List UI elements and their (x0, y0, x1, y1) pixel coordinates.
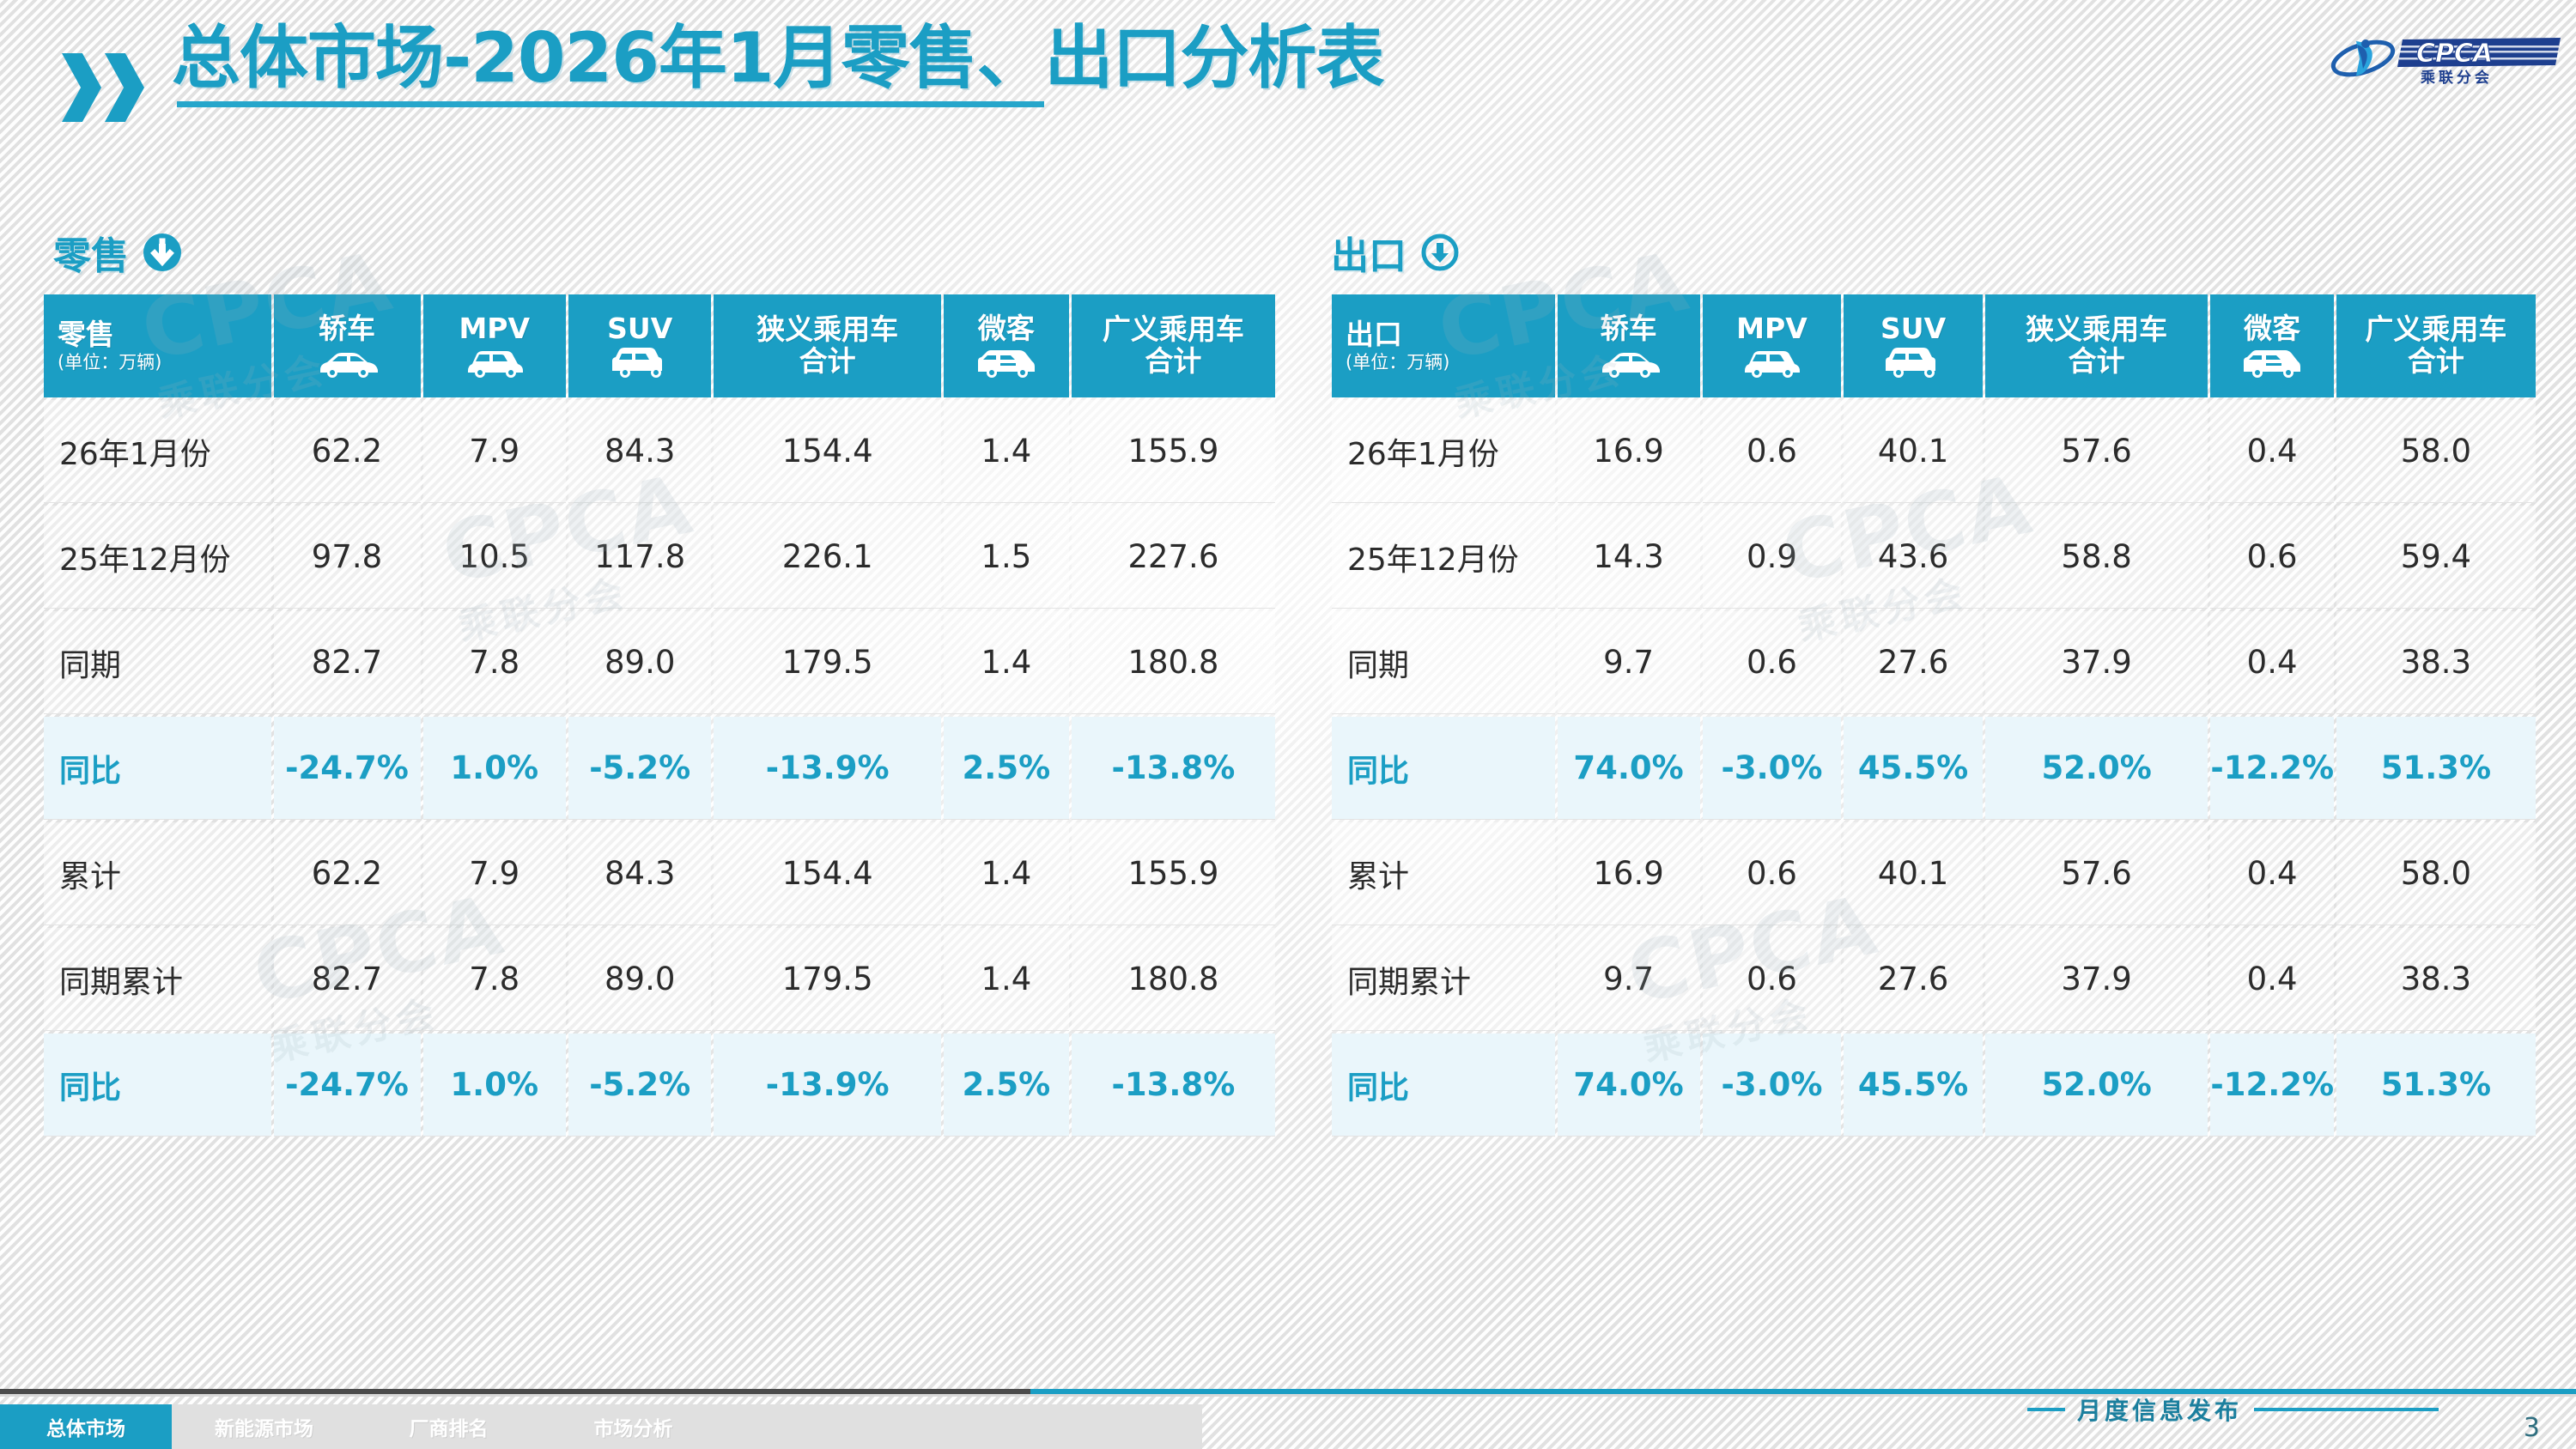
export-cell-r2-c2: 27.6 (1844, 611, 1983, 714)
export-table-head: 出口(单位：万辆)轿车 MPV SUV 狭义乘用车 合计微客 广义乘用车 合计 (1332, 294, 2536, 397)
retail-table-row: 26年1月份62.27.984.3154.41.4155.9 (44, 400, 1275, 503)
retail-table-head: 零售(单位：万辆)轿车 MPV SUV 狭义乘用车 合计微客 广义乘用车 合计 (44, 294, 1275, 397)
retail-header-row: 零售(单位：万辆)轿车 MPV SUV 狭义乘用车 合计微客 广义乘用车 合计 (44, 294, 1275, 397)
retail-row-label-0: 26年1月份 (44, 400, 271, 503)
retail-corner-unit: (单位：万辆) (58, 353, 268, 373)
retail-cell-r1-c0: 97.8 (274, 506, 421, 609)
export-col-header-4: 微客 (2210, 294, 2333, 397)
export-table-row: 同期9.70.627.637.90.438.3 (1332, 611, 2536, 714)
retail-table-body: 26年1月份62.27.984.3154.41.4155.925年12月份97.… (44, 400, 1275, 1137)
section-caption-retail-label: 零售 (53, 225, 129, 280)
export-cell-r0-c0: 16.9 (1558, 400, 1700, 503)
retail-table-corner-header: 零售(单位：万辆) (44, 294, 271, 397)
export-cell-r3-c1: -3.0% (1703, 717, 1842, 820)
retail-cell-r1-c4: 1.5 (944, 506, 1069, 609)
export-cell-r2-c5: 38.3 (2336, 611, 2536, 714)
export-col-header-label-0: 轿车 (1561, 313, 1697, 345)
export-col-header-label-1: MPV (1706, 313, 1838, 345)
retail-corner-label: 零售 (58, 319, 268, 351)
export-table-row: 25年12月份14.30.943.658.80.659.4 (1332, 506, 2536, 609)
bottom-navigation[interactable]: 总体市场新能源市场厂商排名市场分析 (0, 1404, 1202, 1449)
retail-cell-r0-c1: 7.9 (423, 400, 566, 503)
suv-icon (572, 348, 708, 379)
export-cell-r5-c4: 0.4 (2210, 928, 2333, 1031)
nav-item-2[interactable]: 厂商排名 (356, 1404, 541, 1449)
export-table-row: 累计16.90.640.157.60.458.0 (1332, 822, 2536, 925)
export-row-label-2: 同期 (1332, 611, 1555, 714)
retail-col-header-2: SUV (568, 294, 711, 397)
retail-cell-r4-c2: 84.3 (568, 822, 711, 925)
retail-cell-r0-c5: 155.9 (1072, 400, 1275, 503)
export-cell-r5-c5: 38.3 (2336, 928, 2536, 1031)
retail-cell-r6-c3: -13.9% (714, 1034, 941, 1137)
slide-page: 总体市场-2026年1月零售、出口分析表 CPCA 乘联分会 (0, 0, 2576, 1449)
export-row-label-3: 同比 (1332, 717, 1555, 820)
retail-cell-r0-c0: 62.2 (274, 400, 421, 503)
export-cell-r2-c0: 9.7 (1558, 611, 1700, 714)
retail-row-label-1: 25年12月份 (44, 506, 271, 609)
export-cell-r5-c1: 0.6 (1703, 928, 1842, 1031)
export-cell-r6-c1: -3.0% (1703, 1034, 1842, 1137)
export-cell-r4-c1: 0.6 (1703, 822, 1842, 925)
export-cell-r1-c5: 59.4 (2336, 506, 2536, 609)
retail-col-header-5: 广义乘用车 合计 (1072, 294, 1275, 397)
minivan-icon (2214, 348, 2330, 379)
export-cell-r3-c4: -12.2% (2210, 717, 2333, 820)
export-cell-r0-c3: 57.6 (1985, 400, 2208, 503)
export-cell-r4-c4: 0.4 (2210, 822, 2333, 925)
retail-cell-r3-c3: -13.9% (714, 717, 941, 820)
retail-col-header-label-1: MPV (427, 313, 562, 345)
export-row-label-1: 25年12月份 (1332, 506, 1555, 609)
retail-cell-r5-c4: 1.4 (944, 928, 1069, 1031)
footer-dash-right (2254, 1408, 2439, 1411)
svg-text:CPCA: CPCA (2416, 39, 2493, 69)
export-cell-r2-c1: 0.6 (1703, 611, 1842, 714)
export-corner-label: 出口 (1346, 319, 1552, 351)
retail-table-row: 累计62.27.984.3154.41.4155.9 (44, 822, 1275, 925)
footer-dash-left (2027, 1408, 2065, 1411)
title-underline (177, 101, 1044, 107)
retail-cell-r5-c5: 180.8 (1072, 928, 1275, 1031)
suv-icon (1847, 348, 1979, 379)
export-row-label-4: 累计 (1332, 822, 1555, 925)
export-cell-r4-c2: 40.1 (1844, 822, 1983, 925)
export-col-header-0: 轿车 (1558, 294, 1700, 397)
nav-item-3[interactable]: 市场分析 (541, 1404, 726, 1449)
export-col-header-5: 广义乘用车 合计 (2336, 294, 2536, 397)
retail-table-row: 同期82.77.889.0179.51.4180.8 (44, 611, 1275, 714)
retail-col-header-4: 微客 (944, 294, 1069, 397)
retail-col-header-label-2: SUV (572, 313, 708, 345)
export-cell-r6-c4: -12.2% (2210, 1034, 2333, 1137)
svg-text:乘联分会: 乘联分会 (2420, 69, 2493, 86)
export-cell-r3-c2: 45.5% (1844, 717, 1983, 820)
retail-row-label-2: 同期 (44, 611, 271, 714)
export-cell-r4-c5: 58.0 (2336, 822, 2536, 925)
export-table-row: 同比74.0%-3.0%45.5%52.0%-12.2%51.3% (1332, 717, 2536, 820)
export-cell-r3-c0: 74.0% (1558, 717, 1700, 820)
retail-row-label-6: 同比 (44, 1034, 271, 1137)
retail-row-label-5: 同期累计 (44, 928, 271, 1031)
nav-item-1[interactable]: 新能源市场 (172, 1404, 356, 1449)
retail-cell-r3-c4: 2.5% (944, 717, 1069, 820)
retail-cell-r6-c4: 2.5% (944, 1034, 1069, 1137)
retail-cell-r4-c4: 1.4 (944, 822, 1069, 925)
export-cell-r0-c4: 0.4 (2210, 400, 2333, 503)
retail-cell-r2-c3: 179.5 (714, 611, 941, 714)
export-cell-r5-c3: 37.9 (1985, 928, 2208, 1031)
sedan-icon (277, 348, 417, 379)
section-caption-export: 出口 (1331, 225, 1460, 280)
export-cell-r5-c0: 9.7 (1558, 928, 1700, 1031)
retail-cell-r6-c2: -5.2% (568, 1034, 711, 1137)
arrow-down-circle-outline-icon (1420, 233, 1460, 272)
page-number: 3 (2524, 1413, 2540, 1443)
export-col-header-1: MPV (1703, 294, 1842, 397)
export-cell-r2-c4: 0.4 (2210, 611, 2333, 714)
export-row-label-0: 26年1月份 (1332, 400, 1555, 503)
page-title: 总体市场-2026年1月零售、出口分析表 (172, 22, 1384, 94)
retail-cell-r1-c3: 226.1 (714, 506, 941, 609)
retail-cell-r3-c5: -13.8% (1072, 717, 1275, 820)
retail-cell-r5-c2: 89.0 (568, 928, 711, 1031)
export-cell-r6-c3: 52.0% (1985, 1034, 2208, 1137)
retail-cell-r2-c0: 82.7 (274, 611, 421, 714)
retail-cell-r5-c3: 179.5 (714, 928, 941, 1031)
export-table: 出口(单位：万辆)轿车 MPV SUV 狭义乘用车 合计微客 广义乘用车 合计 … (1329, 292, 2538, 1139)
page-title-wrap: 总体市场-2026年1月零售、出口分析表 (172, 22, 1384, 94)
retail-cell-r2-c2: 89.0 (568, 611, 711, 714)
export-cell-r3-c5: 51.3% (2336, 717, 2536, 820)
retail-cell-r6-c0: -24.7% (274, 1034, 421, 1137)
export-col-header-2: SUV (1844, 294, 1983, 397)
export-table-row: 同比74.0%-3.0%45.5%52.0%-12.2%51.3% (1332, 1034, 2536, 1137)
retail-cell-r1-c2: 117.8 (568, 506, 711, 609)
export-cell-r1-c4: 0.6 (2210, 506, 2333, 609)
retail-cell-r1-c5: 227.6 (1072, 506, 1275, 609)
retail-cell-r6-c5: -13.8% (1072, 1034, 1275, 1137)
retail-table-row: 同比-24.7%1.0%-5.2%-13.9%2.5%-13.8% (44, 1034, 1275, 1137)
chevron-double-right-icon (62, 53, 144, 122)
retail-col-header-label-0: 轿车 (277, 313, 417, 345)
retail-cell-r3-c2: -5.2% (568, 717, 711, 820)
page-header: 总体市场-2026年1月零售、出口分析表 CPCA 乘联分会 (0, 0, 2576, 172)
export-cell-r6-c5: 51.3% (2336, 1034, 2536, 1137)
retail-cell-r4-c0: 62.2 (274, 822, 421, 925)
retail-col-header-1: MPV (423, 294, 566, 397)
retail-cell-r5-c1: 7.8 (423, 928, 566, 1031)
retail-cell-r2-c5: 180.8 (1072, 611, 1275, 714)
export-col-header-label-4: 微客 (2214, 313, 2330, 345)
export-cell-r4-c0: 16.9 (1558, 822, 1700, 925)
export-col-header-label-5: 广义乘用车 合计 (2340, 314, 2532, 378)
export-col-header-3: 狭义乘用车 合计 (1985, 294, 2208, 397)
retail-cell-r2-c1: 7.8 (423, 611, 566, 714)
retail-cell-r4-c5: 155.9 (1072, 822, 1275, 925)
arrow-down-circle-filled-icon (143, 233, 182, 272)
retail-table: 零售(单位：万辆)轿车 MPV SUV 狭义乘用车 合计微客 广义乘用车 合计 … (41, 292, 1278, 1139)
retail-cell-r0-c3: 154.4 (714, 400, 941, 503)
section-caption-export-label: 出口 (1331, 225, 1406, 280)
export-cell-r0-c1: 0.6 (1703, 400, 1842, 503)
retail-table-row: 同期累计82.77.889.0179.51.4180.8 (44, 928, 1275, 1031)
minivan-icon (947, 348, 1066, 379)
export-col-header-label-2: SUV (1847, 313, 1979, 345)
retail-cell-r3-c1: 1.0% (423, 717, 566, 820)
retail-cell-r6-c1: 1.0% (423, 1034, 566, 1137)
mpv-icon (1706, 348, 1838, 379)
retail-col-header-3: 狭义乘用车 合计 (714, 294, 941, 397)
retail-cell-r2-c4: 1.4 (944, 611, 1069, 714)
export-cell-r1-c3: 58.8 (1985, 506, 2208, 609)
export-cell-r1-c0: 14.3 (1558, 506, 1700, 609)
export-cell-r4-c3: 57.6 (1985, 822, 2208, 925)
retail-col-header-label-5: 广义乘用车 合计 (1075, 314, 1272, 378)
retail-cell-r0-c2: 84.3 (568, 400, 711, 503)
export-cell-r0-c5: 58.0 (2336, 400, 2536, 503)
retail-cell-r5-c0: 82.7 (274, 928, 421, 1031)
export-cell-r2-c3: 37.9 (1985, 611, 2208, 714)
export-header-row: 出口(单位：万辆)轿车 MPV SUV 狭义乘用车 合计微客 广义乘用车 合计 (1332, 294, 2536, 397)
nav-item-0[interactable]: 总体市场 (0, 1404, 172, 1449)
export-table-body: 26年1月份16.90.640.157.60.458.025年12月份14.30… (1332, 400, 2536, 1137)
retail-cell-r4-c1: 7.9 (423, 822, 566, 925)
cpca-logo: CPCA 乘联分会 (2330, 33, 2561, 86)
retail-cell-r3-c0: -24.7% (274, 717, 421, 820)
retail-table-row: 25年12月份97.810.5117.8226.11.5227.6 (44, 506, 1275, 609)
export-cell-r6-c2: 45.5% (1844, 1034, 1983, 1137)
retail-table-row: 同比-24.7%1.0%-5.2%-13.9%2.5%-13.8% (44, 717, 1275, 820)
retail-row-label-4: 累计 (44, 822, 271, 925)
mpv-icon (427, 348, 562, 379)
retail-cell-r0-c4: 1.4 (944, 400, 1069, 503)
retail-col-header-0: 轿车 (274, 294, 421, 397)
footer-brand-label: 月度信息发布 (2077, 1392, 2242, 1427)
export-cell-r5-c2: 27.6 (1844, 928, 1983, 1031)
retail-cell-r1-c1: 10.5 (423, 506, 566, 609)
export-cell-r1-c1: 0.9 (1703, 506, 1842, 609)
export-row-label-6: 同比 (1332, 1034, 1555, 1137)
export-cell-r0-c2: 40.1 (1844, 400, 1983, 503)
sedan-icon (1561, 348, 1697, 379)
export-table-row: 同期累计9.70.627.637.90.438.3 (1332, 928, 2536, 1031)
section-caption-retail: 零售 (53, 225, 182, 280)
export-corner-unit: (单位：万辆) (1346, 353, 1552, 373)
export-table-row: 26年1月份16.90.640.157.60.458.0 (1332, 400, 2536, 503)
export-cell-r1-c2: 43.6 (1844, 506, 1983, 609)
retail-col-header-label-3: 狭义乘用车 合计 (717, 314, 938, 378)
export-cell-r3-c3: 52.0% (1985, 717, 2208, 820)
retail-col-header-label-4: 微客 (947, 313, 1066, 345)
export-cell-r6-c0: 74.0% (1558, 1034, 1700, 1137)
retail-row-label-3: 同比 (44, 717, 271, 820)
footer-brand: 月度信息发布 (2027, 1392, 2439, 1427)
retail-cell-r4-c3: 154.4 (714, 822, 941, 925)
export-table-corner-header: 出口(单位：万辆) (1332, 294, 1555, 397)
export-row-label-5: 同期累计 (1332, 928, 1555, 1031)
export-col-header-label-3: 狭义乘用车 合计 (1989, 314, 2205, 378)
